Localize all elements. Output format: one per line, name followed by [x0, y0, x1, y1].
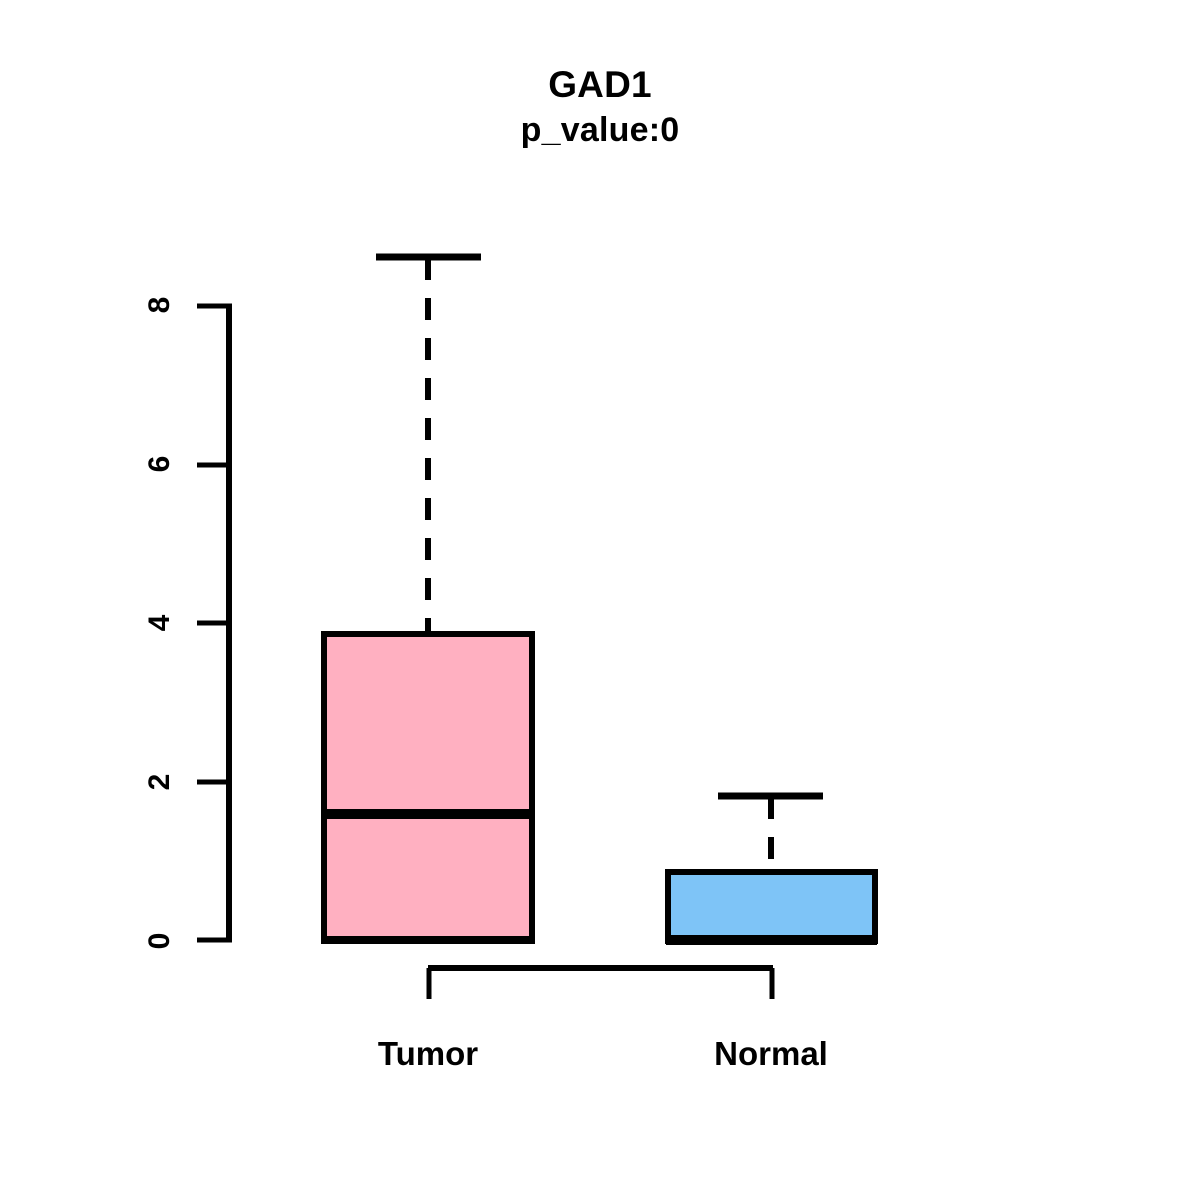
y-axis — [197, 305, 232, 941]
box-rect-normal — [668, 872, 875, 941]
boxplot-figure: GAD1 p_value:0 Gene Expression Level (lo… — [0, 0, 1200, 1200]
x-axis — [428, 968, 773, 999]
box-normal[interactable] — [666, 796, 877, 941]
box-rect-tumor — [324, 634, 532, 941]
box-tumor[interactable] — [322, 257, 534, 941]
plot-canvas — [0, 0, 1200, 1200]
